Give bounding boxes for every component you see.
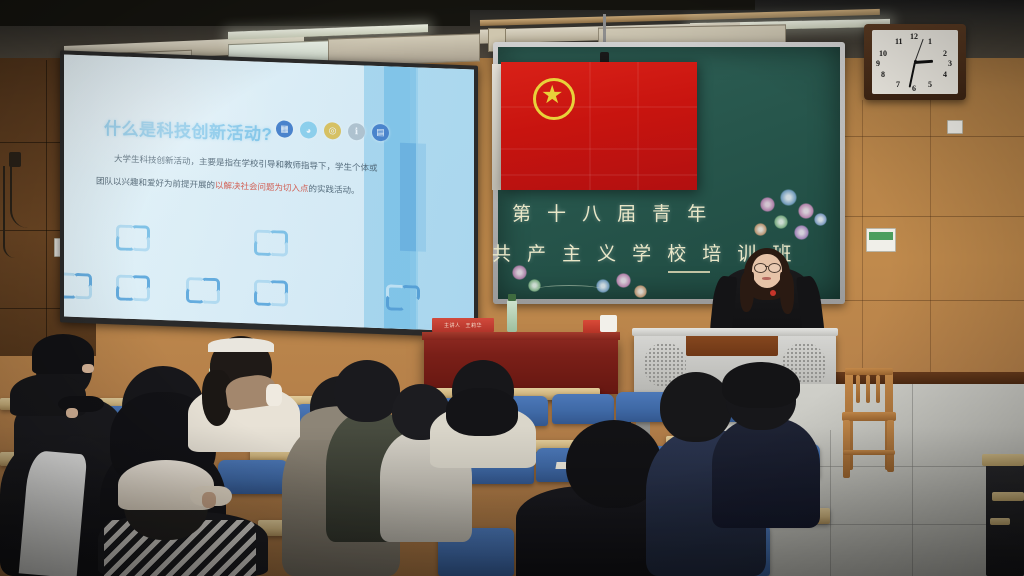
student-body bbox=[712, 418, 820, 528]
student-jacket-stripe bbox=[19, 450, 88, 576]
wall-sign bbox=[947, 120, 963, 134]
wall-clock: 12 1 2 3 4 5 6 7 8 9 10 11 bbox=[864, 24, 966, 100]
flag-star-icon: ★ bbox=[541, 83, 563, 108]
seat[interactable] bbox=[552, 394, 614, 424]
chalk-flower bbox=[798, 203, 814, 219]
blackboard-underline bbox=[668, 271, 710, 273]
chalk-flower bbox=[634, 285, 647, 298]
chalk-flower bbox=[814, 213, 827, 226]
water-bottle[interactable] bbox=[507, 300, 517, 332]
blackboard-line-1: 第 十 八 届 青 年 bbox=[512, 199, 711, 226]
student-collar bbox=[266, 384, 282, 406]
communist-youth-league-flag: ★ bbox=[501, 62, 697, 190]
bottle-cap bbox=[508, 294, 516, 301]
side-desk-top bbox=[982, 454, 1024, 466]
nameplate-right-text: 王莉华 bbox=[466, 322, 483, 329]
headband bbox=[208, 338, 274, 352]
presenter-mouth bbox=[762, 277, 771, 280]
student-ear bbox=[82, 364, 94, 373]
side-desk-shelf bbox=[990, 518, 1010, 525]
student-head bbox=[334, 360, 400, 422]
presenter-hair-side bbox=[740, 272, 754, 312]
wall-seam bbox=[46, 60, 47, 350]
nameplate-left-text: 主讲人 bbox=[444, 322, 461, 329]
slide-surface: 什么是科技创新活动? ▦ ◕ ◎ ℹ ▤ 大学生科技创新活动，主要是指在学校引导… bbox=[64, 54, 474, 331]
student-face bbox=[202, 492, 216, 508]
eyeglasses-right-lens bbox=[768, 263, 781, 273]
nameplate: 主讲人 王莉华 bbox=[432, 318, 494, 332]
long-hair bbox=[446, 388, 518, 436]
front-desk-top bbox=[422, 332, 620, 340]
party-badge bbox=[770, 290, 776, 296]
presenter-hair-side bbox=[780, 272, 794, 314]
curly-hair bbox=[722, 362, 800, 408]
classroom-scene: 什么是科技创新活动? ▦ ◕ ◎ ℹ ▤ 大学生科技创新活动，主要是指在学校引导… bbox=[0, 0, 1024, 576]
chalk-vine bbox=[536, 285, 602, 294]
student-ear bbox=[66, 408, 78, 418]
side-desk-shelf bbox=[992, 492, 1024, 501]
wooden-chair-toprail bbox=[845, 368, 893, 375]
eyeglasses-left-lens bbox=[754, 263, 767, 273]
tissue-stack bbox=[600, 315, 617, 332]
chalk-flower bbox=[616, 273, 631, 288]
chalk-flower bbox=[754, 223, 767, 236]
ceiling-void bbox=[0, 0, 470, 26]
projection-screen-frame: 什么是科技创新活动? ▦ ◕ ◎ ℹ ▤ 大学生科技创新活动，主要是指在学校引导… bbox=[60, 50, 478, 337]
eyeglasses-bridge bbox=[765, 266, 768, 267]
wall-outlet[interactable] bbox=[9, 152, 21, 167]
chalk-flower bbox=[794, 225, 809, 240]
wooden-chair-slat bbox=[876, 375, 880, 403]
chalk-flower bbox=[512, 265, 527, 280]
lectern-desktop bbox=[632, 328, 838, 336]
wooden-chair-slat bbox=[866, 375, 870, 403]
cap-brim bbox=[58, 396, 104, 412]
wooden-chair-leg bbox=[843, 420, 850, 478]
chalk-flower bbox=[774, 215, 788, 229]
chalk-flower bbox=[760, 197, 775, 212]
ceiling-void bbox=[455, 0, 755, 10]
power-cable bbox=[3, 166, 15, 258]
wooden-chair-slat bbox=[856, 375, 860, 403]
chalk-flower bbox=[780, 189, 797, 206]
safety-label bbox=[866, 228, 896, 252]
projection-screen: 什么是科技创新活动? ▦ ◕ ◎ ℹ ▤ 大学生科技创新活动，主要是指在学校引导… bbox=[64, 54, 474, 331]
